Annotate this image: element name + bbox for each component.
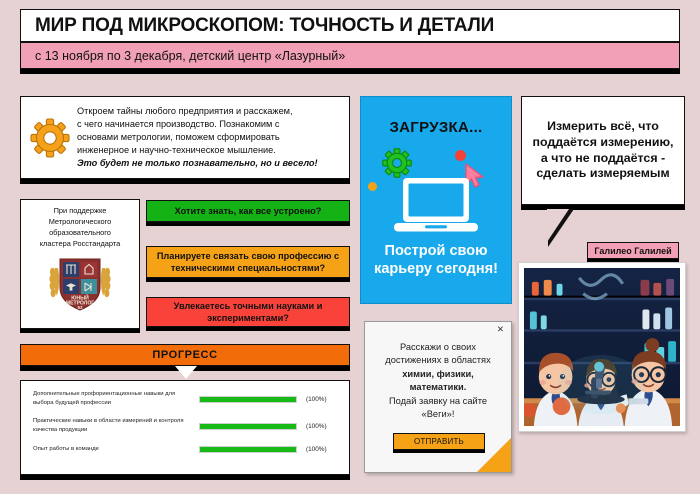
intro-text: Откроем тайны любого предприятия и расск… <box>73 105 318 170</box>
cta-text: Расскажи о своих достижениях в областях … <box>365 322 511 422</box>
question-button-1-label: Хотите знать, как все устроено? <box>169 205 328 217</box>
progress-row-label: Опыт работы в команде <box>33 445 193 454</box>
cta-line-1: Расскажи о своих <box>374 341 502 354</box>
progress-row-label: Практические навыки в области измерений … <box>33 417 193 435</box>
loading-cta-line-2: карьеру сегодня! <box>374 260 498 278</box>
progress-bar-track <box>199 446 297 453</box>
quote-bubble: Измерить всё, что поддаётся измерению, а… <box>521 96 685 205</box>
intro-line-3: основами метрологии, поможем сформироват… <box>77 131 318 144</box>
cta-line-2: достижениях в областях <box>374 354 502 367</box>
cta-card: ✕ Расскажи о своих достижениях в областя… <box>364 321 512 473</box>
progress-row: Практические навыки в области измерений … <box>33 417 339 435</box>
loading-illustration <box>360 140 512 240</box>
question-button-3[interactable]: Увлекаетесь точными науками и эксперимен… <box>146 297 350 327</box>
loading-panel: ЗАГРУЗКА... <box>360 96 512 304</box>
loading-cta-line-1: Построй свою <box>374 242 498 260</box>
photo-frame <box>518 262 686 432</box>
progress-row: Дополнительные профориентационные навыки… <box>33 390 339 408</box>
intro-line-2: с чего начинается производство. Познаком… <box>77 118 318 131</box>
page-subtitle-text: с 13 ноября по 3 декабря, детский центр … <box>21 49 345 63</box>
folded-corner-icon <box>477 438 511 472</box>
question-button-3-label: Увлекаетесь точными науками и эксперимен… <box>147 300 349 325</box>
support-line-3: образовательного <box>24 227 136 238</box>
question-button-2[interactable]: Планируете связать свою профессию с техн… <box>146 246 350 278</box>
quote-author-text: Галилео Галилей <box>594 246 671 256</box>
progress-header: ПРОГРЕСС <box>20 344 350 366</box>
quote-text: Измерить всё, что поддаётся измерению, а… <box>530 119 676 183</box>
support-card: При поддержке Метрологического образоват… <box>20 199 140 329</box>
quote-bubble-tail <box>548 209 574 247</box>
submit-button[interactable]: ОТПРАВИТЬ <box>393 433 485 450</box>
cta-line-4: математики. <box>410 382 467 392</box>
page-title-text: МИР ПОД МИКРОСКОПОМ: ТОЧНОСТЬ И ДЕТАЛИ <box>21 15 494 37</box>
question-button-1[interactable]: Хотите знать, как все устроено? <box>146 200 350 222</box>
progress-row: Опыт работы в команде (100%) <box>33 445 339 454</box>
dot-red-icon <box>455 150 466 161</box>
dot-orange-icon <box>368 182 377 191</box>
progress-bar-track <box>199 423 297 430</box>
close-icon[interactable]: ✕ <box>497 325 504 334</box>
support-line-4: кластера Росстандарта <box>24 238 136 249</box>
progress-notch-icon <box>175 366 197 379</box>
intro-emphasis: Это будет не только познавательно, но и … <box>77 157 318 170</box>
intro-line-1: Откроем тайны любого предприятия и расск… <box>77 105 318 118</box>
submit-button-label: ОТПРАВИТЬ <box>414 437 464 446</box>
support-line-2: Метрологического <box>24 216 136 227</box>
children-microscope-lab-illustration <box>524 268 680 426</box>
progress-bar-fill <box>200 447 296 452</box>
intro-card: Откроем тайны любого предприятия и расск… <box>20 96 350 179</box>
loading-cta-text: Построй свою карьеру сегодня! <box>374 242 498 278</box>
intro-line-4: инженерное и научно-техническое мышление… <box>77 144 318 157</box>
progress-header-label: ПРОГРЕСС <box>152 349 217 361</box>
progress-row-percent: (100%) <box>306 423 327 430</box>
yuniy-metrolog-emblem-icon: ЮНЫЙ МЕТРОЛОГ 52 <box>47 252 113 319</box>
gear-icon <box>27 118 73 158</box>
quote-author-badge: Галилео Галилей <box>587 242 679 259</box>
progress-bar-fill <box>200 397 296 402</box>
poster-root: МИР ПОД МИКРОСКОПОМ: ТОЧНОСТЬ И ДЕТАЛИ с… <box>0 0 700 494</box>
progress-bar-fill <box>200 424 296 429</box>
question-button-2-label: Планируете связать свою профессию с техн… <box>147 250 349 275</box>
page-title: МИР ПОД МИКРОСКОПОМ: ТОЧНОСТЬ И ДЕТАЛИ <box>20 9 680 42</box>
cta-line-3: химии, физики, <box>402 369 474 379</box>
progress-row-label: Дополнительные профориентационные навыки… <box>33 390 193 408</box>
support-line-1: При поддержке <box>24 205 136 216</box>
support-text: При поддержке Метрологического образоват… <box>24 205 136 249</box>
page-subtitle: с 13 ноября по 3 декабря, детский центр … <box>20 42 680 69</box>
cta-line-5: Подай заявку на сайте <box>374 395 502 408</box>
svg-text:52: 52 <box>77 305 83 310</box>
cta-line-6: «Веги»! <box>374 408 502 421</box>
laptop-icon <box>392 176 480 238</box>
gear-icon <box>382 148 412 178</box>
progress-row-percent: (100%) <box>306 446 327 453</box>
progress-row-percent: (100%) <box>306 396 327 403</box>
loading-label: ЗАГРУЗКА... <box>389 119 482 136</box>
progress-bar-track <box>199 396 297 403</box>
progress-list: Дополнительные профориентационные навыки… <box>20 380 350 475</box>
